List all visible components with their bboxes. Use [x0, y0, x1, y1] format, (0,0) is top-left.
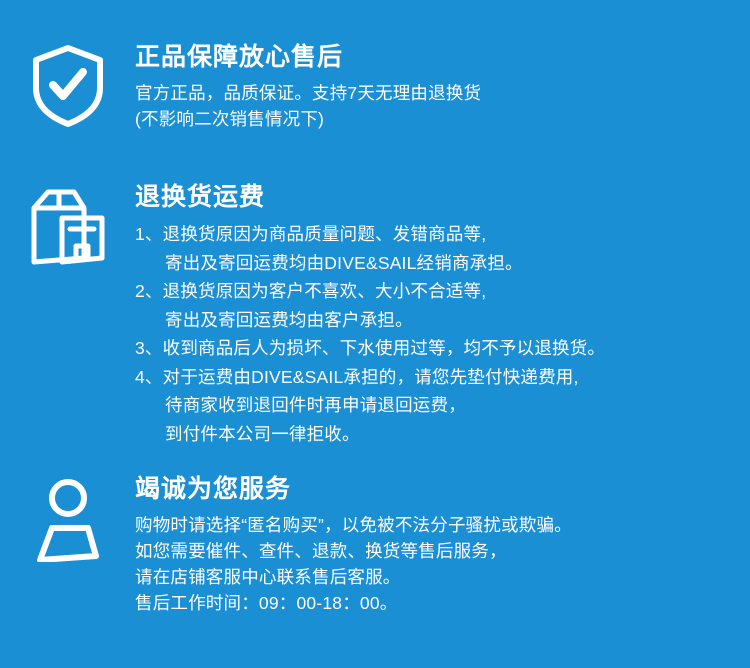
warranty-line-2: (不影响二次销售情况下) [135, 106, 750, 132]
shipping-title: 退换货运费 [135, 182, 750, 212]
after-sales-info-page: 正品保障放心售后 官方正品，品质保证。支持7天无理由退换货 (不影响二次销售情况… [0, 0, 750, 668]
list-item: 2、退换货原因为客户不喜欢、大小不合适等, 寄出及寄回运费均由客户承担。 [135, 277, 750, 334]
rule-4-line-3: 到付件本公司一律拒收。 [135, 420, 750, 449]
package-box-icon [26, 184, 110, 268]
shipping-rules-list: 1、退换货原因为商品质量问题、发错商品等, 寄出及寄回运费均由DIVE&SAIL… [135, 220, 750, 448]
shipping-icon-container [0, 182, 135, 268]
warranty-text-container: 正品保障放心售后 官方正品，品质保证。支持7天无理由退换货 (不影响二次销售情况… [135, 42, 750, 132]
section-customer-service: 竭诚为您服务 购物时请选择“匿名购买”，以免被不法分子骚扰或欺骗。 如您需要催件… [0, 474, 750, 616]
list-item: 4、对于运费由DIVE&SAIL承担的，请您先垫付快递费用, 待商家收到退回件时… [135, 363, 750, 449]
service-line-2: 如您需要催件、查件、退款、换货等售后服务， [135, 538, 750, 564]
section-warranty: 正品保障放心售后 官方正品，品质保证。支持7天无理由退换货 (不影响二次销售情况… [0, 42, 750, 132]
rule-3-line-1: 3、收到商品后人为损坏、下水使用过等，均不予以退换货。 [135, 334, 750, 363]
list-item: 1、退换货原因为商品质量问题、发错商品等, 寄出及寄回运费均由DIVE&SAIL… [135, 220, 750, 277]
service-line-4: 售后工作时间：09：00-18：00。 [135, 590, 750, 616]
service-text-container: 竭诚为您服务 购物时请选择“匿名购买”，以免被不法分子骚扰或欺骗。 如您需要催件… [135, 474, 750, 616]
warranty-line-1: 官方正品，品质保证。支持7天无理由退换货 [135, 80, 750, 106]
warranty-icon-container [0, 42, 135, 128]
service-title: 竭诚为您服务 [135, 474, 750, 504]
rule-2-line-1: 2、退换货原因为客户不喜欢、大小不合适等, [135, 277, 750, 306]
rule-4-line-2: 待商家收到退回件时再申请退回运费， [135, 391, 750, 420]
service-icon-container [0, 474, 135, 562]
list-item: 3、收到商品后人为损坏、下水使用过等，均不予以退换货。 [135, 334, 750, 363]
rule-2-line-2: 寄出及寄回运费均由客户承担。 [135, 306, 750, 335]
warranty-title: 正品保障放心售后 [135, 42, 750, 72]
rule-1-line-1: 1、退换货原因为商品质量问题、发错商品等, [135, 220, 750, 249]
service-line-1: 购物时请选择“匿名购买”，以免被不法分子骚扰或欺骗。 [135, 512, 750, 538]
service-line-3: 请在店铺客服中心联系售后客服。 [135, 564, 750, 590]
shipping-text-container: 退换货运费 1、退换货原因为商品质量问题、发错商品等, 寄出及寄回运费均由DIV… [135, 182, 750, 448]
user-person-icon [30, 476, 106, 562]
section-shipping-fees: 退换货运费 1、退换货原因为商品质量问题、发错商品等, 寄出及寄回运费均由DIV… [0, 182, 750, 448]
rule-4-line-1: 4、对于运费由DIVE&SAIL承担的，请您先垫付快递费用, [135, 363, 750, 392]
rule-1-line-2: 寄出及寄回运费均由DIVE&SAIL经销商承担。 [135, 249, 750, 278]
shield-check-icon [32, 44, 104, 128]
